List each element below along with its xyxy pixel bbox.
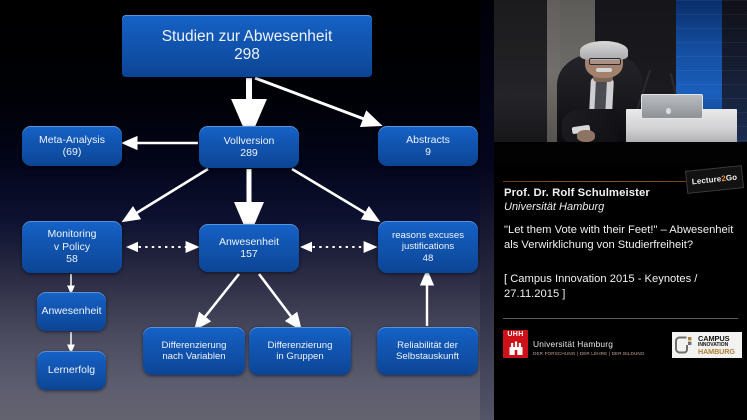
apple-logo-icon (666, 108, 671, 114)
node-root-value: 298 (234, 46, 260, 63)
event-info: [ Campus Innovation 2015 - Keynotes / 27… (504, 272, 739, 302)
node-vollversion: Vollversion 289 (199, 126, 299, 168)
talk-title: "Let them Vote with their Feet!" – Abwes… (504, 223, 734, 253)
uhh-mark-text: UHH (503, 331, 528, 338)
node-monitoring-line2: v Policy (54, 241, 90, 253)
divider-bottom (503, 318, 738, 319)
node-differenzierung-gruppen: Differenzierung in Gruppen (249, 327, 351, 375)
uhh-tagline: DER FORSCHUNG | DER LEHRE | DER BILDUNG (533, 351, 645, 356)
speaker-glasses (589, 58, 621, 66)
speaker-affiliation: Universität Hamburg (504, 201, 604, 213)
node-reliabilitaet: Reliabilität der Selbstauskunft (377, 327, 478, 375)
node-anwesenheit-sub-label: Anwesenheit (37, 305, 105, 317)
lecture2go-badge[interactable]: Lecture2Go (685, 165, 744, 194)
campus-innovation-mark-icon (675, 336, 695, 355)
speaker-moustache (596, 68, 611, 72)
caption-block: Lecture2Go Prof. Dr. Rolf Schulmeister U… (494, 163, 747, 420)
speaker-video-still[interactable] (494, 0, 747, 163)
node-meta-analysis-value: (69) (63, 146, 82, 158)
speaker-hand (577, 130, 595, 141)
node-anwesenheit-value: 157 (240, 248, 258, 260)
node-root: Studien zur Abwesenheit 298 (122, 15, 372, 77)
badge-text-a: Lecture (691, 174, 721, 186)
logo-universitaet-hamburg[interactable]: UHH Universität Hamburg DER FORSCHUNG | … (503, 330, 645, 358)
badge-text-c: Go (725, 173, 737, 183)
node-reasons-excuses: reasons excuses justifications 48 (378, 221, 478, 273)
node-diffgrp-line1: Differenzierung (268, 340, 333, 351)
node-reasons-value: 48 (423, 253, 434, 264)
node-diffgrp-line2: in Gruppen (276, 351, 323, 362)
node-monitoring-value: 58 (66, 253, 78, 265)
presentation-slide: Studien zur Abwesenheit 298 Meta-Analysi… (0, 0, 480, 420)
node-root-label: Studien zur Abwesenheit (162, 28, 333, 45)
node-meta-analysis: Meta-Analysis (69) (22, 126, 122, 166)
campus-innovation-wordmark: CAMPUS INNOVATION HAMBURG (698, 335, 735, 355)
node-diffvar-line2: nach Variablen (162, 351, 225, 362)
speaker-name: Prof. Dr. Rolf Schulmeister (504, 187, 650, 199)
laptop (641, 94, 704, 119)
node-meta-analysis-label: Meta-Analysis (39, 134, 105, 146)
node-abstracts: Abstracts 9 (378, 126, 478, 166)
node-lernerfolg-label: Lernerfolg (44, 364, 99, 376)
cih-line3: HAMBURG (698, 348, 735, 355)
node-vollversion-value: 289 (240, 147, 258, 159)
node-abstracts-label: Abstracts (406, 134, 450, 146)
speaker-panel: Lecture2Go Prof. Dr. Rolf Schulmeister U… (480, 0, 747, 420)
node-abstracts-value: 9 (425, 146, 431, 158)
node-reasons-line2: justifications (402, 241, 454, 252)
node-monitoring-line1: Monitoring (47, 228, 96, 240)
uhh-name: Universität Hamburg (533, 339, 645, 349)
node-differenzierung-variablen: Differenzierung nach Variablen (143, 327, 245, 375)
node-anwesenheit-sub: Anwesenheit (37, 292, 106, 331)
node-vollversion-label: Vollversion (224, 135, 275, 147)
panel-left-edge (480, 0, 494, 420)
node-reasons-line1: reasons excuses (392, 230, 464, 241)
node-reliab-line2: Selbstauskunft (396, 351, 459, 362)
node-anwesenheit: Anwesenheit 157 (199, 224, 299, 272)
uhh-wordmark: Universität Hamburg DER FORSCHUNG | DER … (533, 330, 645, 356)
node-anwesenheit-label: Anwesenheit (219, 236, 279, 248)
stage-floor (494, 142, 747, 163)
node-reliab-line1: Reliabilität der (397, 340, 458, 351)
screenshot-root: Studien zur Abwesenheit 298 Meta-Analysi… (0, 0, 747, 420)
uhh-crest-icon: UHH (503, 330, 528, 358)
logo-campus-innovation-hamburg[interactable]: CAMPUS INNOVATION HAMBURG (672, 332, 742, 358)
node-diffvar-line1: Differenzierung (162, 340, 227, 351)
node-lernerfolg: Lernerfolg (37, 351, 106, 390)
node-monitoring-policy: Monitoring v Policy 58 (22, 221, 122, 273)
hamburg-castle-icon (508, 341, 523, 355)
